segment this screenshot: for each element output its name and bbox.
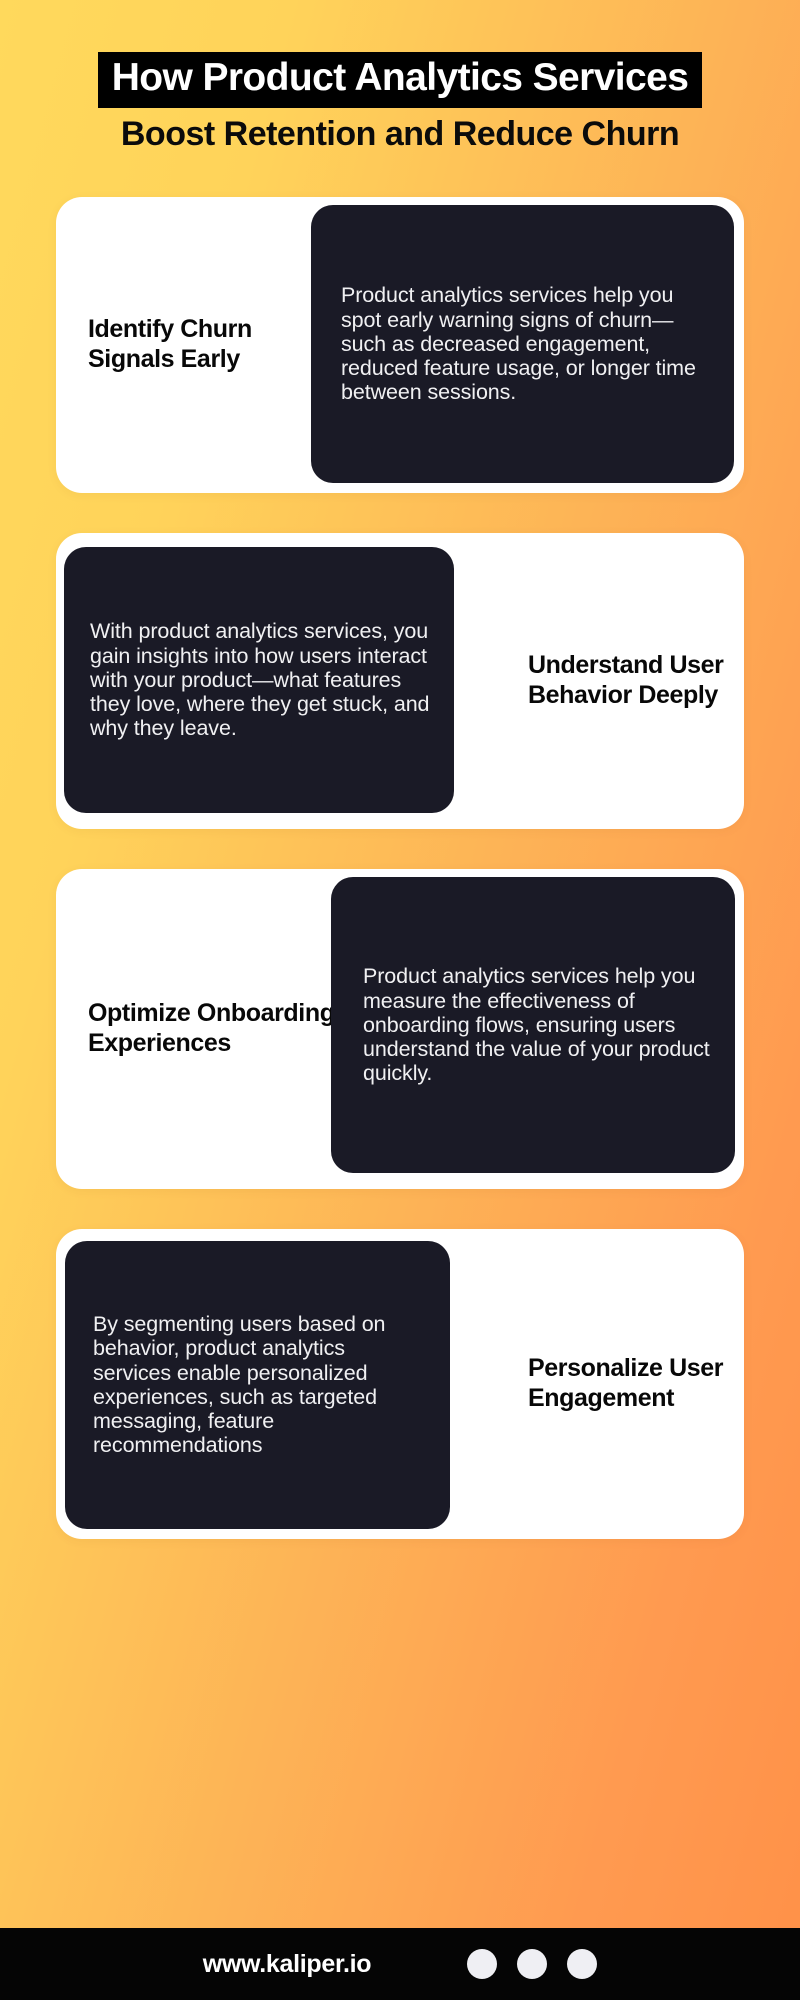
card-body-panel: Product analytics services help you spot…: [311, 205, 734, 483]
card-body-panel: By segmenting users based on behavior, p…: [65, 1241, 450, 1529]
infographic-header: How Product Analytics Services Boost Ret…: [0, 0, 800, 153]
card-optimize-onboarding-experiences: Optimize Onboarding Experiences Product …: [56, 869, 744, 1189]
footer-dot-group: [467, 1949, 597, 1979]
card-heading: Identify Churn Signals Early: [56, 197, 324, 493]
card-body-panel: Product analytics services help you meas…: [331, 877, 735, 1173]
footer-website-url[interactable]: www.kaliper.io: [203, 1950, 372, 1979]
card-heading: Understand User Behavior Deeply: [470, 533, 728, 829]
footer-dot-icon: [517, 1949, 547, 1979]
card-personalize-user-engagement: By segmenting users based on behavior, p…: [56, 1229, 744, 1539]
footer-dot-icon: [567, 1949, 597, 1979]
card-list: Identify Churn Signals Early Product ana…: [0, 197, 800, 1539]
footer-dot-icon: [467, 1949, 497, 1979]
footer-bar: www.kaliper.io: [0, 1928, 800, 2000]
page-title-line-2: Boost Retention and Reduce Churn: [121, 117, 679, 153]
card-heading: Personalize User Engagement: [466, 1229, 730, 1539]
card-identify-churn-signals-early: Identify Churn Signals Early Product ana…: [56, 197, 744, 493]
card-understand-user-behavior-deeply: With product analytics services, you gai…: [56, 533, 744, 829]
card-heading: Optimize Onboarding Experiences: [56, 869, 346, 1189]
card-body-panel: With product analytics services, you gai…: [64, 547, 454, 813]
title-band: How Product Analytics Services: [98, 52, 703, 108]
page-title-line-1: How Product Analytics Services: [112, 58, 689, 99]
